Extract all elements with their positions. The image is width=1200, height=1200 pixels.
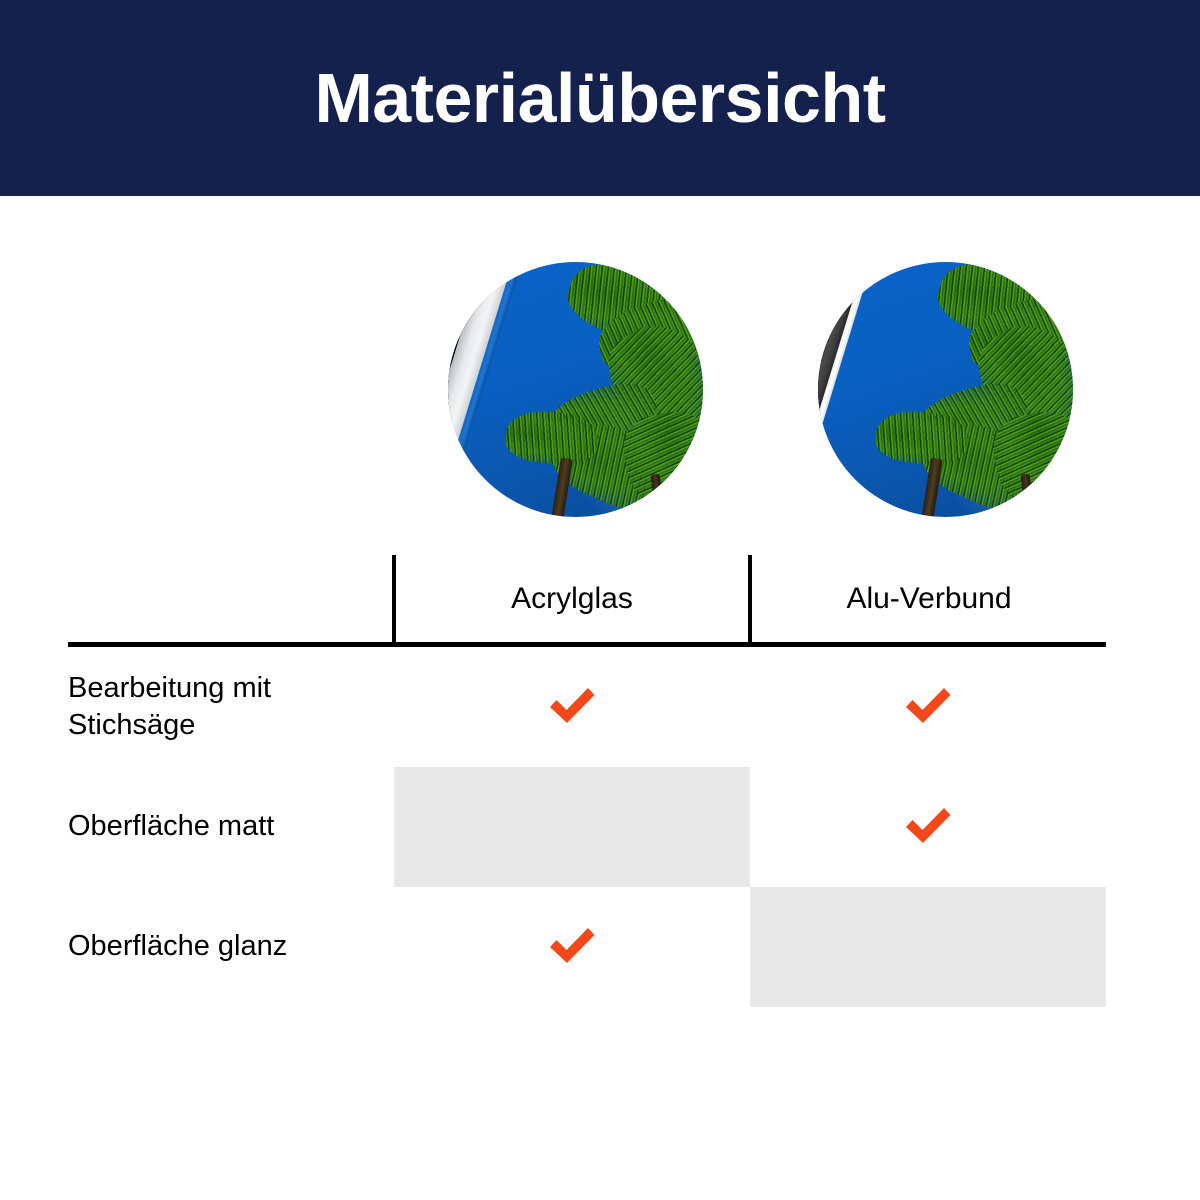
table-row: Oberfläche matt: [68, 767, 1106, 887]
check-mark-icon: [546, 926, 598, 964]
page-title: Materialübersicht: [314, 63, 885, 133]
panel-edge-overlay: [818, 262, 1073, 517]
acrylglas-sample-image: [448, 262, 703, 517]
material-comparison-table: Acrylglas Alu-Verbund Bearbeitung mit St…: [68, 555, 1106, 1013]
check-mark-icon: [902, 686, 954, 724]
row-label-oberflaeche-matt: Oberfläche matt: [68, 767, 394, 887]
check-mark-icon: [546, 686, 598, 724]
cell-matt-alu-verbund: [750, 767, 1106, 887]
table-row: Bearbeitung mit Stichsäge: [68, 645, 1106, 768]
header-banner: Materialübersicht: [0, 0, 1200, 196]
column-header-alu-verbund: Alu-Verbund: [750, 555, 1106, 645]
row-label-line-2: Stichsäge: [68, 709, 195, 741]
table-corner-cell: [68, 555, 394, 645]
panel-edge-overlay: [448, 262, 703, 517]
row-label-line-1: Oberfläche glanz: [68, 930, 287, 962]
row-label-bearbeitung-stichsaege: Bearbeitung mit Stichsäge: [68, 645, 394, 768]
row-label-line-1: Oberfläche matt: [68, 810, 274, 842]
row-label-oberflaeche-glanz: Oberfläche glanz: [68, 887, 394, 1007]
check-mark-icon: [902, 806, 954, 844]
cell-glanz-acrylglas: [394, 887, 750, 1007]
cell-matt-acrylglas: [394, 767, 750, 887]
row-label-line-1: Bearbeitung mit: [68, 672, 271, 704]
table-header-row: Acrylglas Alu-Verbund: [68, 555, 1106, 645]
material-sample-row: [0, 262, 1200, 517]
cell-glanz-alu-verbund: [750, 887, 1106, 1007]
column-header-acrylglas: Acrylglas: [394, 555, 750, 645]
alu-verbund-sample-image: [818, 262, 1073, 517]
cell-stichsaege-alu-verbund: [750, 645, 1106, 768]
table-row: Oberfläche glanz: [68, 887, 1106, 1007]
cell-stichsaege-acrylglas: [394, 645, 750, 768]
